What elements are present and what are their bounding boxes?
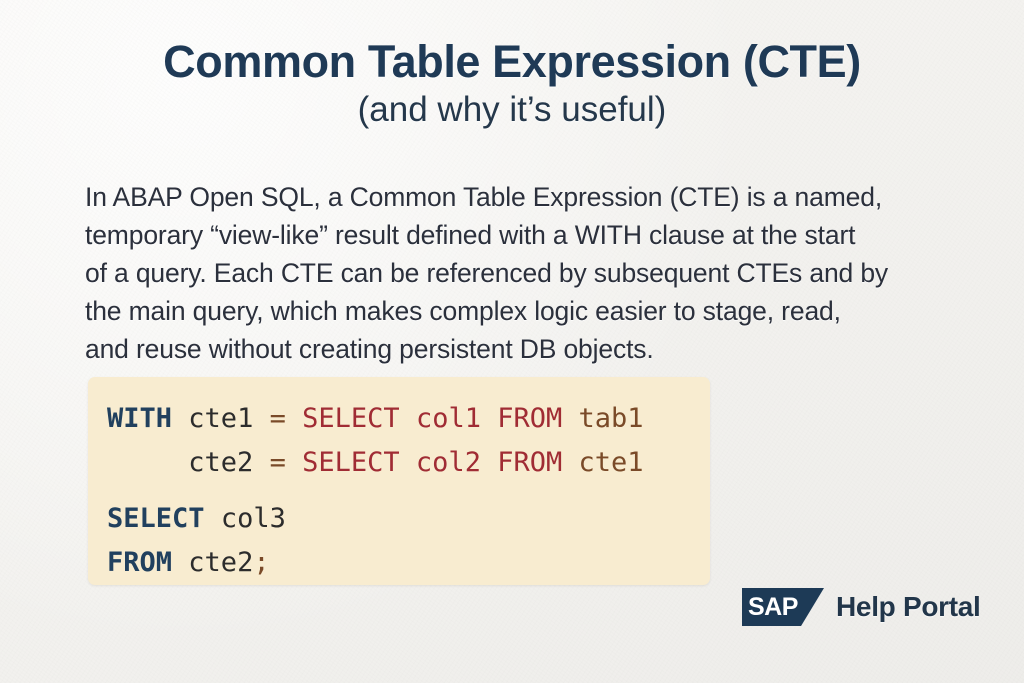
code-token <box>286 403 302 434</box>
code-token: ; <box>253 547 269 578</box>
code-token: = <box>270 447 286 478</box>
page-title: Common Table Expression (CTE) <box>0 38 1024 86</box>
body-line: the main query, which makes complex logi… <box>85 292 985 330</box>
code-token: cte2 <box>188 547 253 578</box>
code-line: SELECT col3 <box>107 497 644 541</box>
code-token: col2 <box>416 447 481 478</box>
code-token <box>107 447 188 478</box>
code-block-card: WITH cte1 = SELECT col1 FROM tab1 cte2 =… <box>88 377 710 585</box>
code-token: SELECT <box>302 403 400 434</box>
sap-logo-text: SAP <box>742 595 798 620</box>
code-snippet: WITH cte1 = SELECT col1 FROM tab1 cte2 =… <box>107 397 644 585</box>
code-token <box>562 403 578 434</box>
body-line: and reuse without creating persistent DB… <box>85 330 985 368</box>
code-token: tab1 <box>579 403 644 434</box>
code-token: FROM <box>497 403 562 434</box>
code-token <box>400 403 416 434</box>
sap-help-portal-logo: SAP Help Portal <box>742 586 981 628</box>
code-token <box>253 447 269 478</box>
code-token <box>253 403 269 434</box>
body-paragraph: In ABAP Open SQL, a Common Table Express… <box>85 178 985 368</box>
code-token <box>172 547 188 578</box>
code-token <box>172 403 188 434</box>
code-token: col1 <box>416 403 481 434</box>
code-line: cte2 = SELECT col2 FROM cte1 <box>107 441 644 485</box>
code-token: FROM <box>497 447 562 478</box>
body-line: In ABAP Open SQL, a Common Table Express… <box>85 178 985 216</box>
page-subtitle: (and why it’s useful) <box>0 90 1024 130</box>
code-token: WITH <box>107 403 172 434</box>
code-token: cte1 <box>579 447 644 478</box>
help-portal-label: Help Portal <box>836 591 981 623</box>
sap-logo-icon: SAP <box>742 588 824 626</box>
code-token: cte1 <box>188 403 253 434</box>
code-line: FROM cte2; <box>107 541 644 585</box>
code-token: cte2 <box>188 447 253 478</box>
body-line: of a query. Each CTE can be referenced b… <box>85 254 985 292</box>
code-token: = <box>270 403 286 434</box>
code-token <box>481 447 497 478</box>
code-token <box>205 503 221 534</box>
code-token: SELECT <box>107 503 205 534</box>
code-line: WITH cte1 = SELECT col1 FROM tab1 <box>107 397 644 441</box>
code-token <box>562 447 578 478</box>
code-token: FROM <box>107 547 172 578</box>
code-token: col3 <box>221 503 286 534</box>
title-block: Common Table Expression (CTE) (and why i… <box>0 38 1024 130</box>
body-line: temporary “view-like” result defined wit… <box>85 216 985 254</box>
code-token <box>481 403 497 434</box>
code-token: SELECT <box>302 447 400 478</box>
code-token <box>286 447 302 478</box>
slide-canvas: Common Table Expression (CTE) (and why i… <box>0 0 1024 683</box>
code-token <box>400 447 416 478</box>
